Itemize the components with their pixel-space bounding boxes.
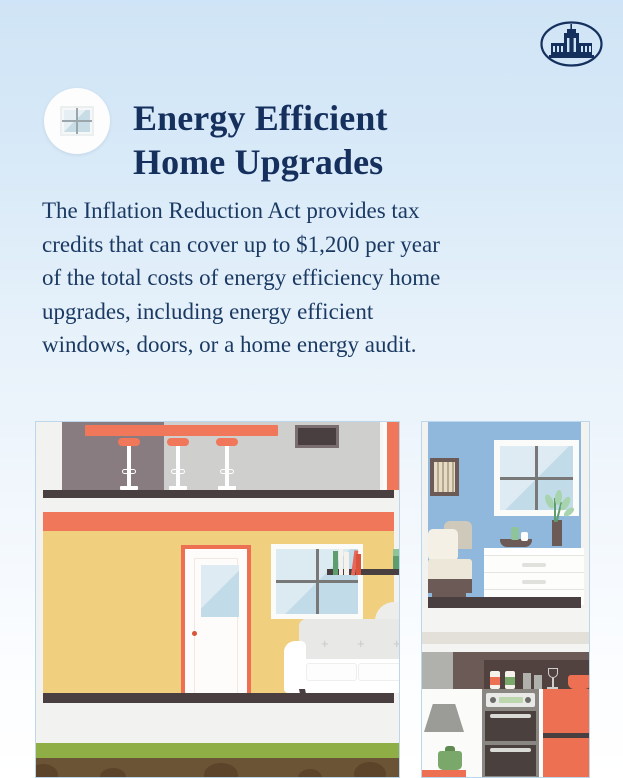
body-line-3: of the total costs of energy efficiency … xyxy=(42,261,542,295)
living-room-window xyxy=(271,544,363,619)
candle-icon xyxy=(521,532,528,541)
body-line-1: The Inflation Reduction Act provides tax xyxy=(42,194,542,228)
door-knob-icon xyxy=(192,631,197,636)
body-line-2: credits that can cover up to $1,200 per … xyxy=(42,228,542,262)
armchair-seat xyxy=(428,559,472,581)
oven-control-panel xyxy=(486,693,535,707)
cup-icon xyxy=(534,675,542,689)
body-line-4: upgrades, including energy efficient xyxy=(42,295,542,329)
bookshelf xyxy=(327,569,400,575)
page-title-line-2: Home Upgrades xyxy=(133,140,533,184)
sofa-cushion xyxy=(306,663,357,681)
jar-icon xyxy=(505,671,515,689)
window-mullion-horizontal xyxy=(276,580,358,583)
dresser-top xyxy=(484,548,584,555)
oven-handle xyxy=(490,714,531,718)
book-icon xyxy=(339,549,343,575)
flower-vase-icon xyxy=(552,520,562,546)
oven-handle xyxy=(490,748,531,752)
stove-pot-icon xyxy=(438,751,462,770)
drawer-handle xyxy=(522,580,546,584)
oven-door-lower xyxy=(485,745,536,776)
cup-icon xyxy=(523,673,531,689)
bar-stool xyxy=(118,438,140,490)
kitchen-counter xyxy=(422,770,466,778)
page-title: Energy Efficient Home Upgrades xyxy=(133,96,533,184)
sofa-tuft-icon: + xyxy=(393,637,400,650)
bedroom-floor-slab xyxy=(428,597,581,608)
house-foundation xyxy=(36,703,399,743)
framed-art-icon xyxy=(430,458,459,496)
stool-footrest xyxy=(220,469,234,474)
sofa-tuft-icon: + xyxy=(357,637,365,650)
armchair-pillow xyxy=(428,529,458,561)
bar-counter-top xyxy=(85,425,278,436)
oven-door-upper xyxy=(485,711,536,741)
body-line-5: windows, doors, or a home energy audit. xyxy=(42,328,542,362)
kitchen-scene xyxy=(422,652,589,778)
stool-seat xyxy=(216,438,238,446)
bar-stool xyxy=(216,438,238,490)
dresser-drawer xyxy=(484,572,584,589)
grass-strip xyxy=(36,743,399,758)
oven xyxy=(482,689,539,778)
dresser-drawer xyxy=(484,555,584,572)
plant-vase-icon xyxy=(393,549,400,569)
jar-icon xyxy=(490,671,500,689)
infographic-page: Energy Efficient Home Upgrades The Infla… xyxy=(0,0,623,778)
book-icon xyxy=(356,554,361,575)
stool-footrest xyxy=(122,469,136,474)
sofa-tuft-icon: + xyxy=(321,637,329,650)
armchair xyxy=(428,521,472,605)
pot-icon xyxy=(568,675,590,689)
stool-seat xyxy=(118,438,140,446)
page-title-line-1: Energy Efficient xyxy=(133,96,533,140)
living-room-valance xyxy=(43,512,394,531)
upper-wall-divider xyxy=(383,422,387,490)
candle-icon xyxy=(511,527,519,540)
divider-stripe xyxy=(422,632,589,644)
wine-glass-icon xyxy=(548,668,558,678)
window-mullion-horizontal xyxy=(62,120,92,122)
sofa: + + + xyxy=(284,619,400,703)
oven-knob xyxy=(490,697,496,703)
kitchen-wall-block xyxy=(422,652,453,689)
door-panel xyxy=(185,549,247,703)
white-house-seal-icon xyxy=(539,20,604,68)
window-icon xyxy=(60,106,94,136)
window-mullion-horizontal xyxy=(500,477,573,480)
armchair-frame xyxy=(428,579,472,593)
bedroom-scene xyxy=(422,422,589,605)
oven-knob xyxy=(525,697,531,703)
drawer-handle xyxy=(522,563,546,567)
stool-seat xyxy=(167,438,189,446)
sofa-cushion xyxy=(358,663,400,681)
fridge-door-split xyxy=(543,733,590,738)
door-glass xyxy=(201,565,239,617)
mid-divider-band xyxy=(422,608,589,652)
upper-floor-scene xyxy=(36,422,399,498)
wine-glass-stem xyxy=(552,678,554,687)
soil-strip xyxy=(36,758,399,778)
stool-post xyxy=(176,446,180,486)
refrigerator xyxy=(543,689,590,778)
wall-tv-icon xyxy=(295,425,339,448)
front-door xyxy=(181,545,251,703)
book-icon xyxy=(344,552,349,575)
bedroom-kitchen-illustration xyxy=(421,421,590,778)
stool-post xyxy=(127,446,131,486)
living-room-floor xyxy=(43,693,394,703)
stool-post xyxy=(225,446,229,486)
bar-stool xyxy=(167,438,189,490)
oven-display xyxy=(499,697,523,703)
book-icon xyxy=(333,551,338,575)
floor-gap xyxy=(36,498,399,512)
stool-footrest xyxy=(171,469,185,474)
window-icon-badge xyxy=(44,88,110,154)
house-interior-illustration: + + + xyxy=(35,421,400,778)
body-paragraph: The Inflation Reduction Act provides tax… xyxy=(42,194,542,362)
